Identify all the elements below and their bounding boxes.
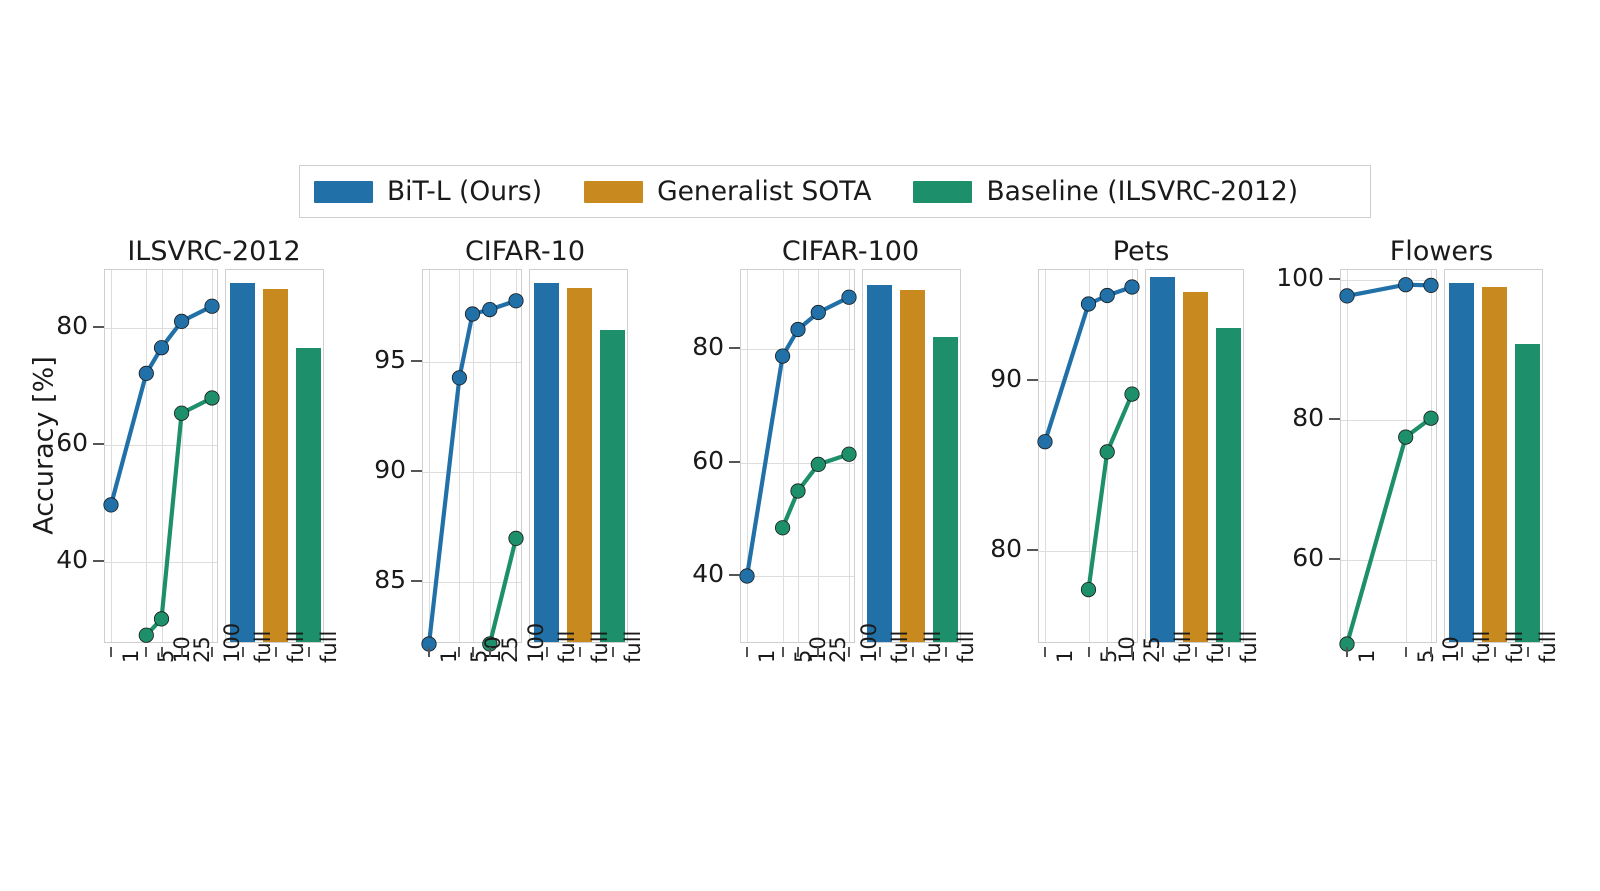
y-tick-label: 90: [990, 364, 1022, 393]
legend-entry-generalist-sota: Generalist SOTA: [584, 166, 871, 217]
x-tick-mark: [1088, 647, 1090, 657]
series-marker: [452, 371, 466, 385]
bar-axes: [529, 269, 628, 643]
x-tick-mark: [782, 647, 784, 657]
bar-baseline-ilsvrc-2012: [296, 348, 322, 642]
y-tick-mark: [1027, 379, 1038, 381]
x-tick-label: full: [1237, 631, 1261, 663]
x-tick-label: 1: [119, 650, 143, 663]
x-tick-mark: [308, 647, 310, 657]
y-tick-label: 40: [56, 545, 88, 574]
x-tick-mark: [1430, 647, 1432, 657]
y-tick-label: 40: [692, 559, 724, 588]
series-marker: [154, 612, 168, 626]
curve-axes: [1038, 269, 1138, 643]
bar-bit-l-ours: [867, 285, 893, 642]
y-tick-label: 100: [1276, 263, 1324, 292]
y-tick-label: 85: [374, 565, 406, 594]
bar-generalist-sota: [900, 290, 926, 642]
series-marker: [811, 305, 825, 319]
series-marker: [1399, 278, 1413, 292]
y-tick-mark: [93, 326, 104, 328]
x-tick-label: full: [1204, 631, 1228, 663]
x-tick-label: 10: [1439, 636, 1463, 663]
x-tick-label: 100: [857, 623, 881, 663]
x-tick-mark: [1494, 647, 1496, 657]
x-tick-mark: [181, 647, 183, 657]
x-tick-mark: [912, 647, 914, 657]
x-tick-label: 100: [220, 623, 244, 663]
series-marker: [740, 569, 754, 583]
x-tick-mark: [945, 647, 947, 657]
x-tick-mark: [879, 647, 881, 657]
panel-title: CIFAR-10: [422, 236, 628, 267]
y-tick-mark: [1027, 549, 1038, 551]
y-tick-label: 60: [1292, 543, 1324, 572]
x-tick-mark: [746, 647, 748, 657]
chart-legend: BiT-L (Ours) Generalist SOTA Baseline (I…: [299, 165, 1371, 218]
y-tick-mark: [1329, 278, 1340, 280]
series-marker: [509, 294, 523, 308]
legend-entry-bit-l: BiT-L (Ours): [314, 166, 542, 217]
series-marker: [509, 531, 523, 545]
curve-axes: [104, 269, 218, 643]
series-line: [1347, 418, 1431, 644]
x-tick-mark: [1162, 647, 1164, 657]
series-marker: [775, 349, 789, 363]
x-tick-mark: [579, 647, 581, 657]
x-tick-label: full: [1470, 631, 1494, 663]
y-tick-label: 80: [56, 311, 88, 340]
x-tick-mark: [428, 647, 430, 657]
y-tick-label: 60: [692, 446, 724, 475]
bar-axes: [1444, 269, 1543, 643]
x-tick-label: 5: [1414, 650, 1438, 663]
x-tick-mark: [1405, 647, 1407, 657]
bar-baseline-ilsvrc-2012: [600, 330, 626, 642]
series-line: [1089, 394, 1133, 589]
x-tick-label: 25: [498, 636, 522, 663]
y-tick-mark: [93, 443, 104, 445]
figure-canvas: BiT-L (Ours) Generalist SOTA Baseline (I…: [0, 0, 1600, 891]
y-tick-label: 95: [374, 345, 406, 374]
x-tick-mark: [817, 647, 819, 657]
x-tick-label: full: [621, 631, 645, 663]
series-marker: [205, 391, 219, 405]
series-marker: [1038, 435, 1052, 449]
x-tick-mark: [1044, 647, 1046, 657]
series-marker: [1081, 297, 1095, 311]
series-marker: [205, 299, 219, 313]
y-tick-label: 80: [692, 332, 724, 361]
series-marker: [1100, 288, 1114, 302]
x-tick-label: full: [921, 631, 945, 663]
series-marker: [1100, 445, 1114, 459]
series-marker: [791, 322, 805, 336]
x-tick-label: 1: [755, 650, 779, 663]
series-marker: [1399, 430, 1413, 444]
y-tick-mark: [1329, 558, 1340, 560]
x-tick-label: 10: [1115, 636, 1139, 663]
x-tick-label: full: [317, 631, 341, 663]
x-tick-mark: [275, 647, 277, 657]
series-marker: [811, 457, 825, 471]
x-tick-label: 25: [190, 636, 214, 663]
bar-generalist-sota: [567, 288, 593, 642]
bar-generalist-sota: [1183, 292, 1209, 642]
bar-axes: [1145, 269, 1244, 643]
curve-plot: [1039, 270, 1139, 644]
series-marker: [483, 302, 497, 316]
bar-bit-l-ours: [534, 283, 560, 642]
legend-label-generalist-sota: Generalist SOTA: [657, 176, 871, 207]
bar-bit-l-ours: [1150, 277, 1176, 643]
bar-baseline-ilsvrc-2012: [933, 337, 959, 642]
x-tick-mark: [1106, 647, 1108, 657]
y-tick-label: 80: [990, 534, 1022, 563]
x-tick-mark: [211, 647, 213, 657]
series-marker: [1081, 582, 1095, 596]
x-tick-label: full: [555, 631, 579, 663]
x-tick-mark: [1228, 647, 1230, 657]
x-tick-mark: [458, 647, 460, 657]
y-tick-mark: [729, 574, 740, 576]
y-tick-mark: [729, 461, 740, 463]
series-marker: [775, 521, 789, 535]
x-tick-label: 100: [524, 623, 548, 663]
bar-baseline-ilsvrc-2012: [1515, 344, 1541, 643]
curve-plot: [423, 270, 523, 644]
curve-axes: [422, 269, 522, 643]
x-tick-label: 1: [437, 650, 461, 663]
series-marker: [139, 366, 153, 380]
series-marker: [174, 406, 188, 420]
x-tick-mark: [242, 647, 244, 657]
y-tick-mark: [411, 580, 422, 582]
series-marker: [174, 314, 188, 328]
x-tick-mark: [1527, 647, 1529, 657]
x-tick-mark: [472, 647, 474, 657]
y-tick-label: 60: [56, 428, 88, 457]
x-tick-label: full: [1503, 631, 1527, 663]
legend-swatch-blue: [314, 181, 373, 203]
bar-axes: [862, 269, 961, 643]
panel-cifar-100: CIFAR-100406080151025100fullfullfull: [740, 236, 961, 686]
panel-title: Flowers: [1340, 236, 1543, 267]
x-tick-mark: [612, 647, 614, 657]
y-axis-label: Accuracy [%]: [29, 336, 60, 556]
bar-bit-l-ours: [230, 283, 256, 642]
series-marker: [1424, 411, 1438, 425]
x-tick-label: full: [954, 631, 978, 663]
legend-label-bit-l: BiT-L (Ours): [387, 176, 542, 207]
bar-generalist-sota: [1482, 287, 1508, 642]
series-marker: [104, 498, 118, 512]
y-tick-label: 90: [374, 455, 406, 484]
legend-label-baseline: Baseline (ILSVRC-2012): [986, 176, 1298, 207]
legend-entry-baseline: Baseline (ILSVRC-2012): [913, 166, 1298, 217]
series-marker: [1125, 280, 1139, 294]
curve-plot: [1341, 270, 1438, 644]
x-tick-mark: [110, 647, 112, 657]
legend-swatch-orange: [584, 181, 643, 203]
y-tick-mark: [411, 360, 422, 362]
series-marker: [842, 447, 856, 461]
x-tick-label: 1: [1355, 650, 1379, 663]
series-marker: [154, 341, 168, 355]
panel-cifar-10: CIFAR-10859095151025100fullfullfull: [422, 236, 628, 686]
series-line: [146, 398, 212, 635]
curve-axes: [1340, 269, 1437, 643]
x-tick-mark: [489, 647, 491, 657]
panel-flowers: Flowers60801001510fullfullfull: [1340, 236, 1543, 686]
curve-axes: [740, 269, 855, 643]
series-line: [747, 297, 849, 576]
series-marker: [1125, 387, 1139, 401]
series-marker: [1424, 278, 1438, 292]
curve-plot: [105, 270, 219, 644]
series-line: [490, 538, 516, 644]
y-tick-mark: [411, 470, 422, 472]
series-line: [1347, 285, 1431, 296]
y-tick-mark: [729, 347, 740, 349]
panel-title: Pets: [1038, 236, 1244, 267]
x-tick-mark: [546, 647, 548, 657]
x-tick-mark: [161, 647, 163, 657]
x-tick-label: full: [588, 631, 612, 663]
x-tick-mark: [797, 647, 799, 657]
x-tick-label: full: [251, 631, 275, 663]
bar-baseline-ilsvrc-2012: [1216, 328, 1242, 643]
panel-ilsvrc-2012: ILSVRC-2012406080151025100fullfullfull: [104, 236, 324, 686]
series-marker: [465, 307, 479, 321]
x-tick-mark: [1131, 647, 1133, 657]
x-tick-label: 1: [1053, 650, 1077, 663]
y-tick-mark: [1329, 418, 1340, 420]
x-tick-label: full: [1536, 631, 1560, 663]
bar-generalist-sota: [263, 289, 289, 642]
x-tick-label: full: [888, 631, 912, 663]
panel-pets: Pets8090151025fullfullfull: [1038, 236, 1244, 686]
x-tick-label: 25: [826, 636, 850, 663]
series-marker: [842, 290, 856, 304]
y-tick-mark: [93, 560, 104, 562]
x-tick-mark: [848, 647, 850, 657]
x-tick-label: full: [284, 631, 308, 663]
y-tick-label: 80: [1292, 403, 1324, 432]
bar-bit-l-ours: [1449, 283, 1475, 642]
series-marker: [1340, 289, 1354, 303]
x-tick-label: full: [1171, 631, 1195, 663]
bar-axes: [225, 269, 324, 643]
x-tick-mark: [145, 647, 147, 657]
x-tick-mark: [515, 647, 517, 657]
x-tick-mark: [1195, 647, 1197, 657]
panel-title: ILSVRC-2012: [104, 236, 324, 267]
legend-swatch-green: [913, 181, 972, 203]
series-marker: [139, 628, 153, 642]
curve-plot: [741, 270, 856, 644]
x-tick-label: 25: [1140, 636, 1164, 663]
x-tick-mark: [1461, 647, 1463, 657]
series-marker: [791, 484, 805, 498]
panel-title: CIFAR-100: [740, 236, 961, 267]
x-tick-mark: [1346, 647, 1348, 657]
